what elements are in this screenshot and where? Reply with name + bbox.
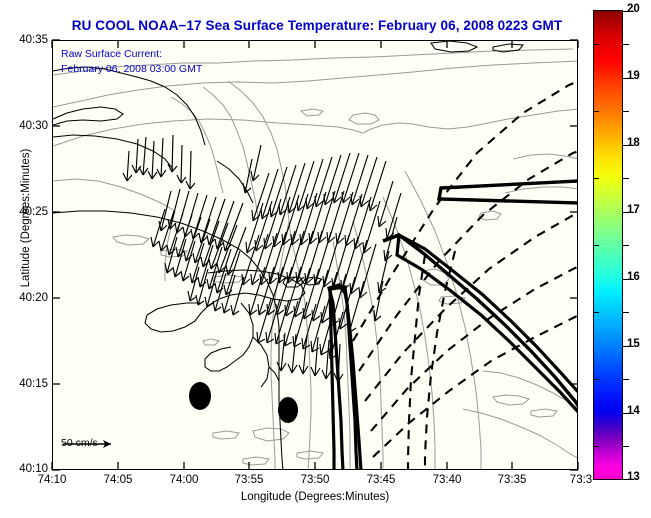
dashed-transect-layer xyxy=(353,81,578,470)
map-graphics xyxy=(53,41,578,470)
sst-contour-layer xyxy=(53,49,578,470)
scale-bar-arrow-icon xyxy=(61,437,121,451)
velocity-scale-bar: 50 cm/s xyxy=(61,437,98,451)
figure-canvas: RU COOL NOAA−17 Sea Surface Temperature:… xyxy=(0,0,651,518)
x-axis-title: Longitude (Degrees:Minutes) xyxy=(52,491,578,503)
y-axis-title: Latitude (Degrees:Minutes) xyxy=(20,128,32,308)
station-marker-layer xyxy=(189,382,298,423)
current-vector-layer xyxy=(123,135,401,382)
figure-title: RU COOL NOAA−17 Sea Surface Temperature:… xyxy=(52,18,582,33)
map-axes[interactable]: Raw Surface Current: February 06, 2008 0… xyxy=(52,40,578,470)
shipping-lane-layer-2 xyxy=(329,235,578,470)
